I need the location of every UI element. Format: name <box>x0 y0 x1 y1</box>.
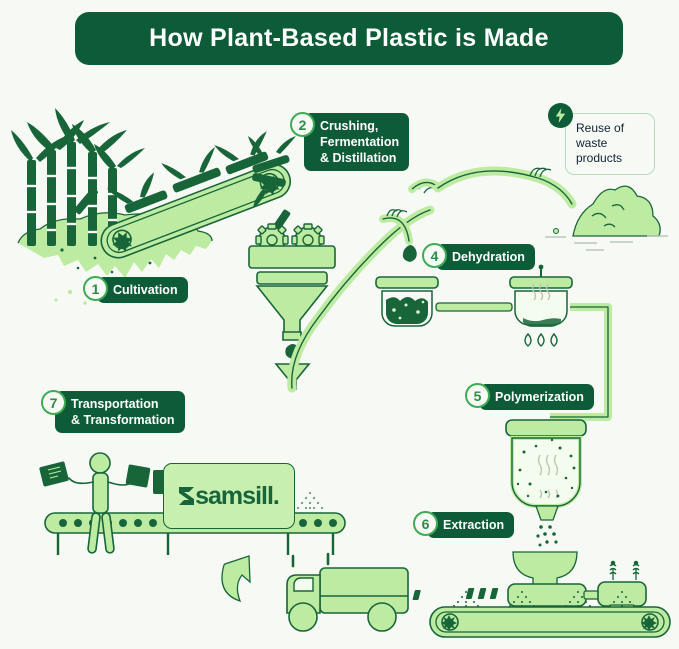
step-1-number: 1 <box>83 276 108 301</box>
flying-cane-pieces-icon <box>248 136 296 233</box>
tube-coil-left <box>412 181 438 193</box>
distillation-tube-icon <box>292 168 572 388</box>
drip-coil <box>387 210 407 217</box>
reuse-waste-text: Reuse of waste products <box>576 121 624 165</box>
samsill-s-mark <box>178 486 195 506</box>
step-4-dehydration[interactable]: 4 Dehydration <box>422 243 535 270</box>
step-1-cultivation[interactable]: 1 Cultivation <box>83 276 188 303</box>
heated-evaporator-icon <box>510 265 572 346</box>
samsill-trademark-dot: . <box>273 482 280 511</box>
extruder-machine-icon <box>376 552 646 613</box>
step-6-label: Extraction <box>427 512 514 538</box>
cane-conveyor-belt-icon <box>82 122 295 263</box>
step-5-polymerization[interactable]: 5 Polymerization <box>465 383 594 410</box>
sugarcane-plants-icon <box>11 108 145 246</box>
step-7-number: 7 <box>41 390 66 415</box>
step-7-label: Transportation & Transformation <box>55 391 185 433</box>
step-4-number: 4 <box>422 243 447 268</box>
pellet-conveyor-icon <box>430 591 670 637</box>
step-2-crushing-fermentation-distillation[interactable]: 2 Crushing, Fermentation & Distillation <box>290 112 409 171</box>
tube-coil-right <box>530 168 551 177</box>
delivery-truck-icon <box>287 554 408 631</box>
fermentation-vessel-icon <box>376 277 438 326</box>
lightning-bolt-icon <box>548 103 573 128</box>
step-4-label: Dehydration <box>436 244 535 270</box>
step-2-number: 2 <box>290 112 315 137</box>
step-1-label: Cultivation <box>97 277 188 303</box>
step-5-label: Polymerization <box>479 384 594 410</box>
samsill-logo-text: samsill <box>195 484 273 509</box>
samsill-product-box: samsill . <box>163 463 295 529</box>
crusher-gears-icon <box>249 224 335 284</box>
polymerization-reactor-icon <box>506 420 586 547</box>
step-6-number: 6 <box>413 511 438 536</box>
droplet-icon <box>403 245 417 262</box>
pellet-piles <box>453 591 635 607</box>
waste-pile-icon <box>545 186 668 250</box>
falling-pellets <box>536 525 557 546</box>
water-droplets-icon <box>525 334 557 346</box>
step-7-transportation-transformation[interactable]: 7 Transportation & Transformation <box>41 390 185 433</box>
step-5-number: 5 <box>465 383 490 408</box>
curved-arrow-icon <box>222 556 250 601</box>
reuse-waste-callout: Reuse of waste products <box>565 113 655 175</box>
step-2-label: Crushing, Fermentation & Distillation <box>304 113 409 171</box>
factory-worker-icon <box>39 453 177 553</box>
funnel-icon <box>257 286 327 389</box>
connector-pipe <box>436 303 512 311</box>
infographic-illustration <box>0 0 679 649</box>
page-title: How Plant-Based Plastic is Made <box>149 24 549 53</box>
infographic-canvas: How Plant-Based Plastic is Made 1 Cultiv… <box>0 0 679 649</box>
step-6-extraction[interactable]: 6 Extraction <box>413 511 514 538</box>
page-title-banner: How Plant-Based Plastic is Made <box>75 12 623 65</box>
